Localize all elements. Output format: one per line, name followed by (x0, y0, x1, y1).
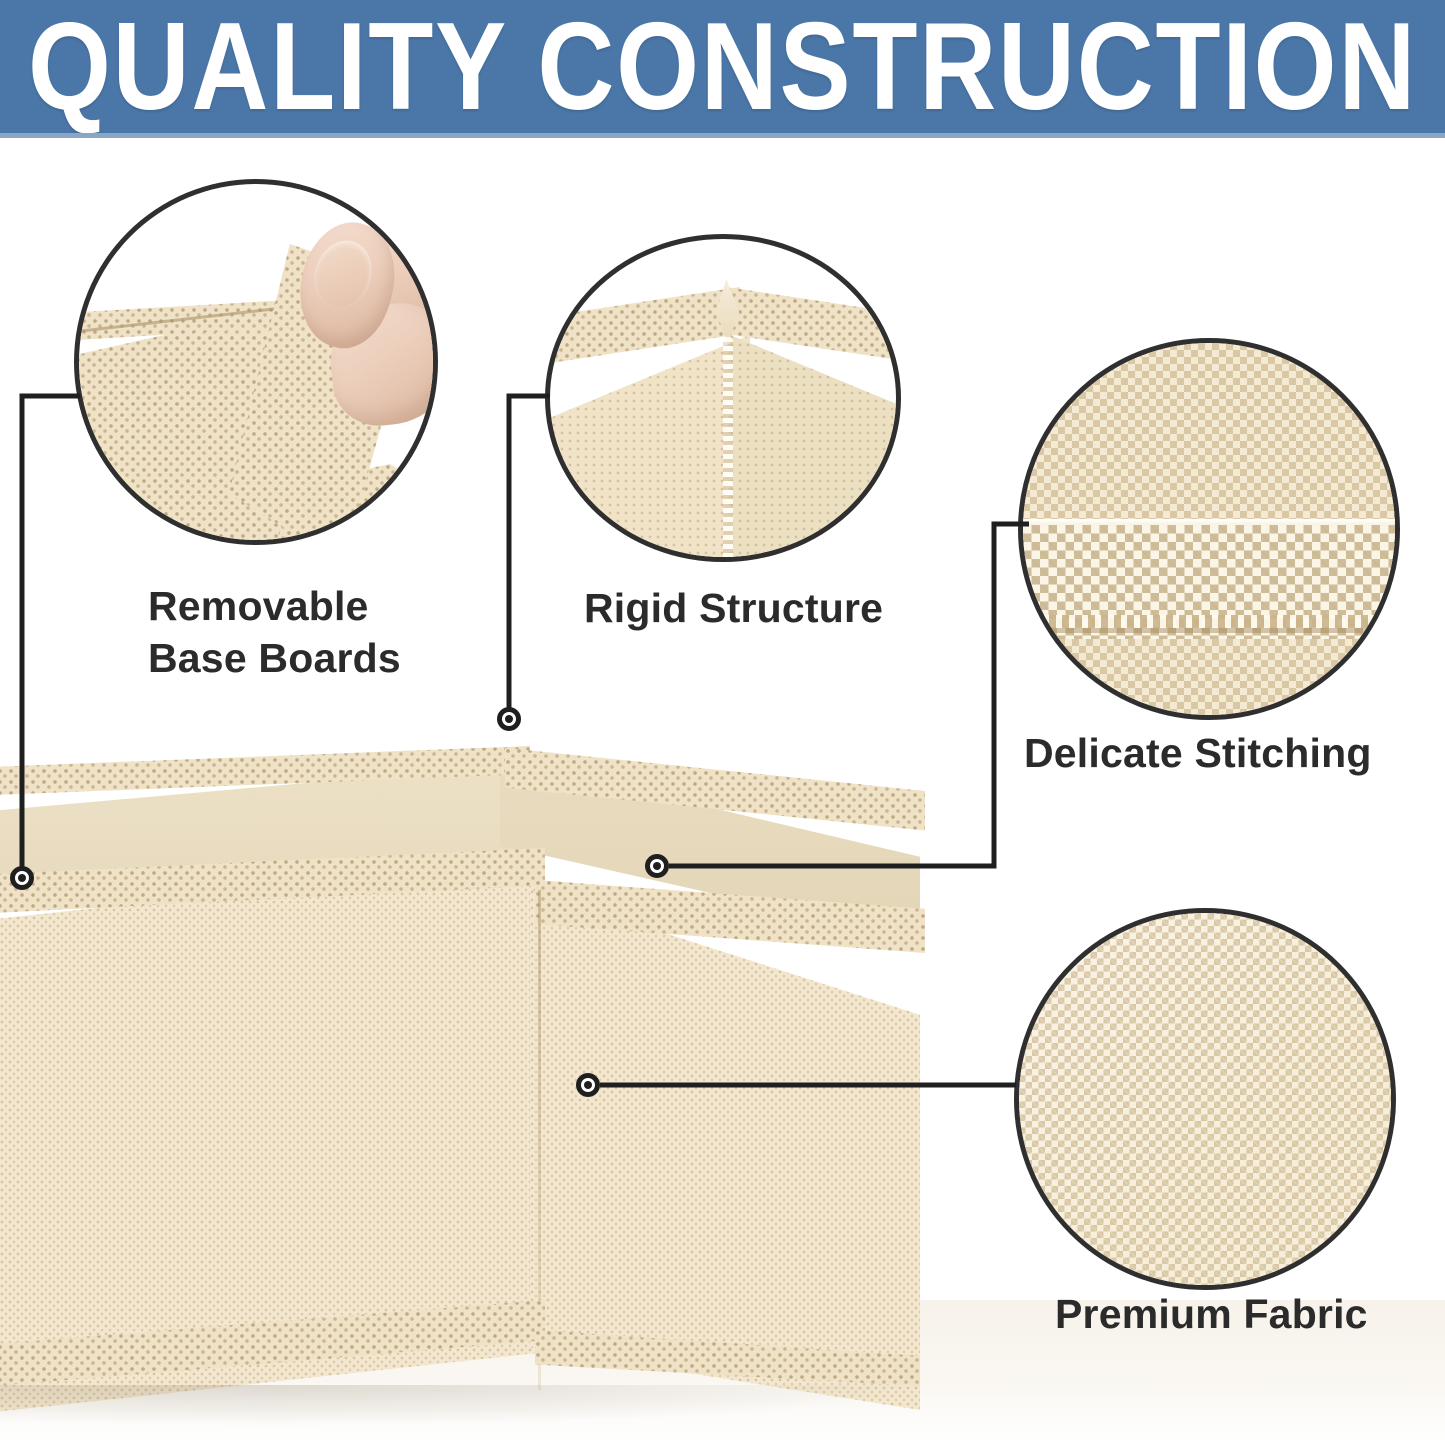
header-banner: QUALITY CONSTRUCTION (0, 0, 1445, 133)
corner-vertical-stitch (723, 337, 733, 562)
pointer-dot-rigid (497, 707, 521, 731)
bin-contact-shadow (0, 1385, 920, 1425)
callout-circle-premium-fabric (1014, 908, 1396, 1290)
callout-circle-delicate-stitching (1018, 338, 1400, 720)
stitch-fabric-above (1023, 343, 1395, 533)
pointer-dot-fabric (576, 1073, 600, 1097)
callout-label-rigid-structure: Rigid Structure (584, 582, 883, 634)
stitch-thread-row (1023, 615, 1395, 628)
callout-label-delicate-stitching: Delicate Stitching (1024, 727, 1372, 779)
bin-front-right-panel (530, 890, 920, 1410)
stitch-shadow-line (1023, 628, 1395, 633)
corner-panel-right (730, 335, 901, 562)
stitch-fabric-below (1023, 639, 1395, 720)
corner-panel-left (545, 335, 750, 562)
stitch-macro-icon (1023, 343, 1395, 715)
pointer-dot-stitching (645, 854, 669, 878)
hand-lifting-board-icon (79, 184, 433, 540)
storage-bin-illustration (0, 740, 960, 1400)
infographic-canvas: QUALITY CONSTRUCTION (0, 0, 1445, 1445)
page-title: QUALITY CONSTRUCTION (101, 0, 1344, 133)
callout-label-premium-fabric: Premium Fabric (1055, 1288, 1368, 1340)
callout-circle-base-boards (74, 179, 438, 545)
fabric-weave-icon (1019, 913, 1391, 1285)
callout-circle-rigid-structure (545, 234, 901, 562)
pointer-dot-base-boards (10, 866, 34, 890)
corner-seam-icon (550, 239, 896, 557)
banner-underline (0, 133, 1445, 138)
callout-label-base-boards: Removable Base Boards (148, 580, 401, 685)
